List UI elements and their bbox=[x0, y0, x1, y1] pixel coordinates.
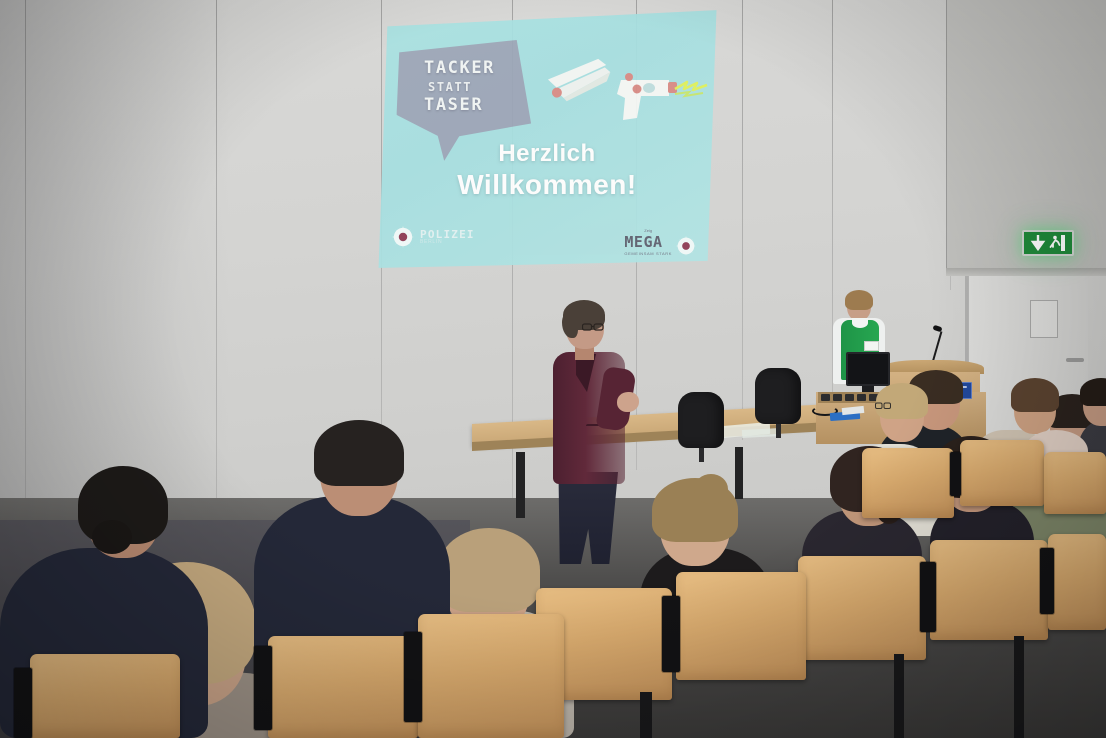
polizei-logo: POLIZEI BERLIN bbox=[392, 226, 475, 248]
mega-logo-word: MEGA bbox=[624, 233, 672, 251]
socket-strip bbox=[818, 392, 882, 403]
audience-hair bbox=[314, 420, 404, 486]
projected-slide: TACKER STATT TASER bbox=[368, 8, 720, 270]
emergency-exit-sign bbox=[1022, 230, 1074, 256]
auditorium-seat[interactable] bbox=[1044, 452, 1106, 514]
auditorium-seat[interactable] bbox=[418, 614, 564, 738]
police-star-icon bbox=[676, 236, 696, 256]
auditorium-seat[interactable] bbox=[1048, 534, 1106, 630]
lectern-monitor[interactable] bbox=[846, 352, 890, 386]
audience-hair bbox=[876, 383, 928, 419]
table-leg bbox=[516, 452, 525, 518]
office-chair[interactable] bbox=[678, 392, 724, 462]
glasses-icon bbox=[875, 402, 891, 410]
moderator-collar bbox=[852, 318, 868, 328]
audience-hair-bun bbox=[92, 520, 132, 554]
wall-seam bbox=[216, 0, 217, 560]
seat-bracket bbox=[404, 632, 422, 722]
moderator-name-badge bbox=[864, 341, 879, 351]
auditorium-seat[interactable] bbox=[798, 556, 926, 660]
glasses-icon bbox=[582, 323, 604, 331]
presenter-hand bbox=[617, 392, 639, 412]
slide-title: TACKER STATT TASER bbox=[424, 60, 534, 114]
table-leg bbox=[735, 447, 743, 499]
door-sign bbox=[1030, 300, 1058, 338]
door-handle[interactable] bbox=[1066, 358, 1084, 362]
auditorium-seat[interactable] bbox=[676, 572, 806, 680]
presenter-hair-side bbox=[562, 312, 578, 338]
seat-leg bbox=[640, 692, 652, 738]
audience-hair bbox=[438, 528, 540, 612]
auditorium-seat[interactable] bbox=[960, 440, 1044, 506]
audience-hair-bun bbox=[694, 474, 728, 504]
welcome-line-2: Willkommen! bbox=[402, 168, 692, 201]
auditorium-seat[interactable] bbox=[862, 448, 954, 518]
seat-bracket bbox=[1040, 548, 1054, 614]
lecture-hall-scene: TACKER STATT TASER bbox=[0, 0, 1106, 738]
seat-bracket bbox=[14, 668, 32, 738]
mega-logo: Zeig MEGA GEMEINSAM STARK bbox=[624, 228, 696, 256]
seat-bracket bbox=[662, 596, 680, 672]
office-chair[interactable] bbox=[755, 368, 801, 438]
seat-bracket bbox=[950, 452, 961, 496]
slide-title-line-3: TASER bbox=[424, 97, 534, 114]
auditorium-seat[interactable] bbox=[30, 654, 180, 738]
desk-items bbox=[812, 404, 878, 422]
welcome-text: Herzlich Willkommen! bbox=[402, 140, 692, 201]
seat-bracket bbox=[254, 646, 272, 730]
slide-title-line-2: STATT bbox=[424, 81, 534, 93]
lightning-bolt-icon bbox=[673, 76, 719, 102]
moderator-hair bbox=[845, 290, 873, 310]
auditorium-seat[interactable] bbox=[268, 636, 418, 738]
polizei-logo-subtitle: BERLIN bbox=[420, 240, 475, 245]
seat-leg bbox=[894, 654, 904, 738]
white-paper[interactable] bbox=[842, 406, 865, 415]
seat-bracket bbox=[920, 562, 936, 632]
audience-hair bbox=[1011, 378, 1059, 412]
mega-logo-subtitle: GEMEINSAM STARK bbox=[624, 251, 672, 256]
slide-title-line-1: TACKER bbox=[424, 60, 534, 77]
soffit-edge bbox=[946, 268, 1106, 276]
down-arrow-icon bbox=[1030, 234, 1046, 252]
running-person-icon bbox=[1048, 234, 1066, 252]
police-star-icon bbox=[392, 226, 414, 248]
wall-seam bbox=[742, 0, 743, 440]
auditorium-seat[interactable] bbox=[930, 540, 1048, 640]
audience-hair bbox=[1080, 378, 1106, 406]
seat-leg bbox=[1014, 636, 1024, 738]
projection-screen-area: TACKER STATT TASER bbox=[368, 8, 720, 270]
welcome-line-1: Herzlich bbox=[402, 140, 692, 168]
